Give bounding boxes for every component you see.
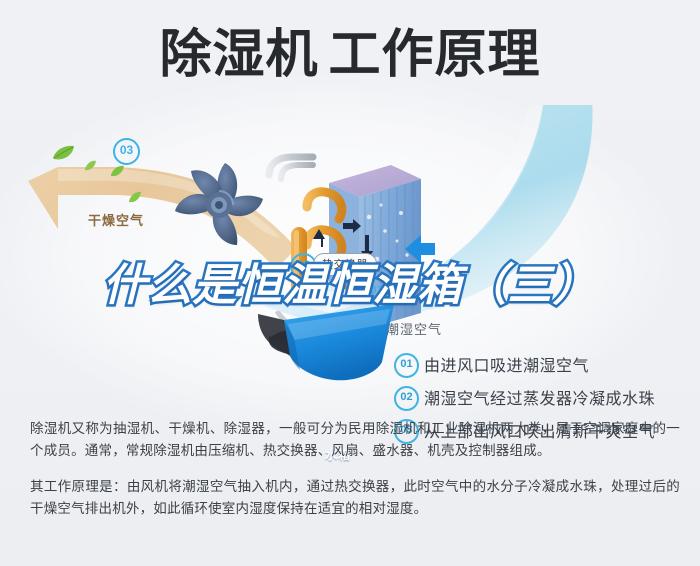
- step-text: 由进风口吸进潮湿空气: [424, 352, 589, 376]
- leaf-icon: [52, 145, 76, 161]
- page-title-part2: 工作原理: [329, 26, 541, 84]
- moist-air-label: 潮湿空气: [386, 319, 442, 338]
- dehumidifier-diagram: 干燥空气: [0, 105, 700, 405]
- leaf-icon: [84, 160, 97, 171]
- dry-air-label: 干燥空气: [88, 210, 144, 229]
- body-paragraph-1: 除湿机又称为抽湿机、干燥机、除湿器，一般可分为民用除湿机和工业除湿机两大类，属于…: [30, 418, 680, 462]
- leaf-icon: [110, 165, 125, 177]
- step-badge: 01: [394, 353, 419, 378]
- list-item: 02 潮湿空气经过蒸发器冷凝成水珠: [394, 384, 694, 417]
- body-paragraph-2: 其工作原理是：由风机将潮湿空气抽入机内，通过热交换器，此时空气中的水分子冷凝成水…: [30, 476, 680, 520]
- step-text: 潮湿空气经过蒸发器冷凝成水珠: [424, 385, 655, 409]
- leaf-icon: [128, 191, 142, 203]
- list-item: 01 由进风口吸进潮湿空气: [394, 351, 694, 384]
- page-title-part1: 除湿机: [159, 26, 318, 84]
- badge-03-dry-air: 03: [113, 138, 140, 165]
- page-title: 除湿机工作原理: [0, 24, 700, 86]
- body-copy: 除湿机又称为抽湿机、干燥机、除湿器，一般可分为民用除湿机和工业除湿机两大类，属于…: [30, 418, 680, 520]
- overlay-headline: 什么是恒温恒湿箱（三）: [0, 261, 700, 311]
- page-root: 除湿机工作原理: [0, 0, 700, 566]
- fan-icon: [167, 155, 271, 259]
- step-badge: 02: [394, 386, 419, 411]
